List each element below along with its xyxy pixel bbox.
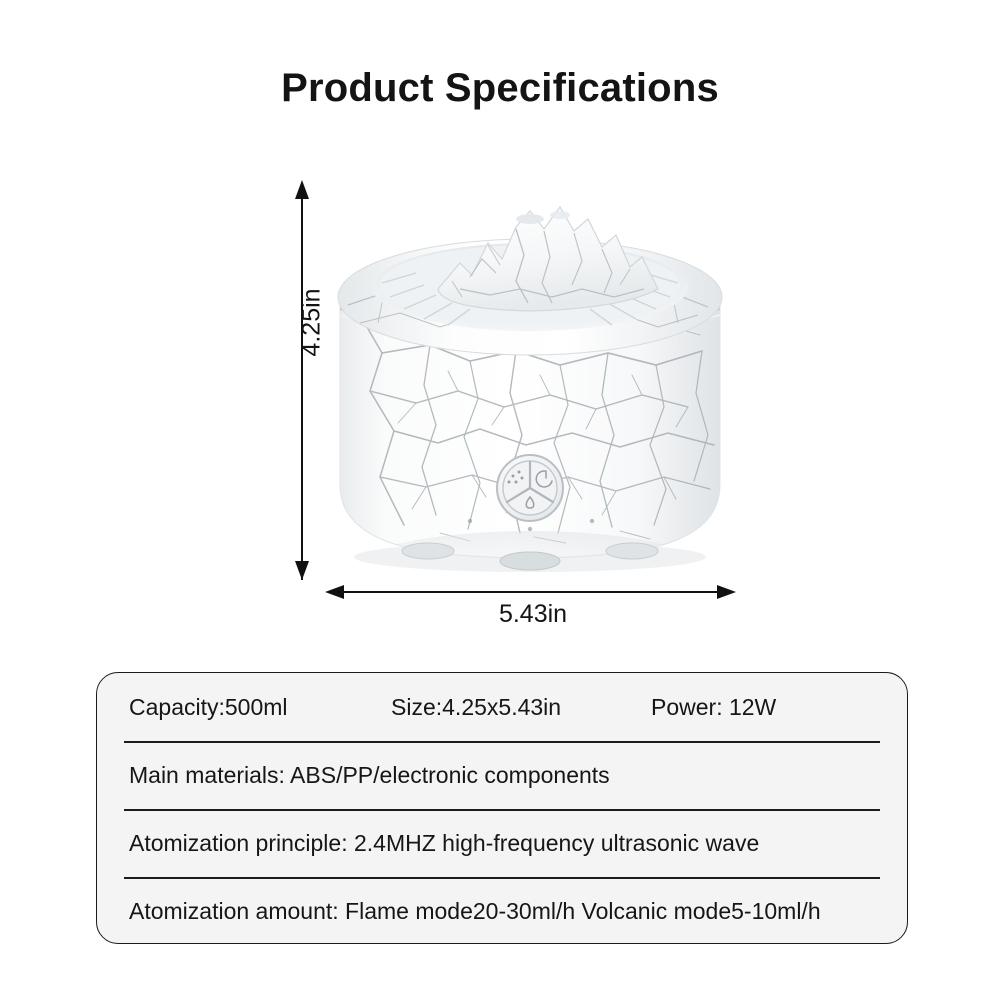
dimension-arrow-right-icon: [717, 585, 736, 599]
specification-card: Capacity:500ml Size:4.25x5.43in Power: 1…: [96, 672, 908, 944]
spec-row: Main materials: ABS/PP/electronic compon…: [97, 741, 907, 809]
spec-row: Atomization amount: Flame mode20-30ml/h …: [97, 877, 907, 945]
spec-cell-power: Power: 12W: [651, 694, 776, 721]
product-photo: [320, 185, 740, 575]
spec-cell-atomization-amount: Atomization amount: Flame mode20-30ml/h …: [129, 898, 821, 925]
width-dimension-line: [338, 591, 728, 593]
height-dimension-line: [301, 193, 303, 580]
spec-cell-atomization-principle: Atomization principle: 2.4MHZ high-frequ…: [129, 830, 759, 857]
spec-row: Atomization principle: 2.4MHZ high-frequ…: [97, 809, 907, 877]
spec-cell-size: Size:4.25x5.43in: [391, 694, 561, 721]
spec-cell-capacity: Capacity:500ml: [129, 694, 288, 721]
spec-row: Capacity:500ml Size:4.25x5.43in Power: 1…: [97, 673, 907, 741]
width-dimension-label: 5.43in: [433, 600, 633, 629]
page-title: Product Specifications: [0, 66, 1000, 111]
spec-cell-main-materials: Main materials: ABS/PP/electronic compon…: [129, 762, 610, 789]
product-image-region: 4.25in 5.43in: [290, 180, 750, 600]
dimension-arrow-down-icon: [295, 561, 309, 580]
control-panel-graphic: [497, 455, 563, 521]
